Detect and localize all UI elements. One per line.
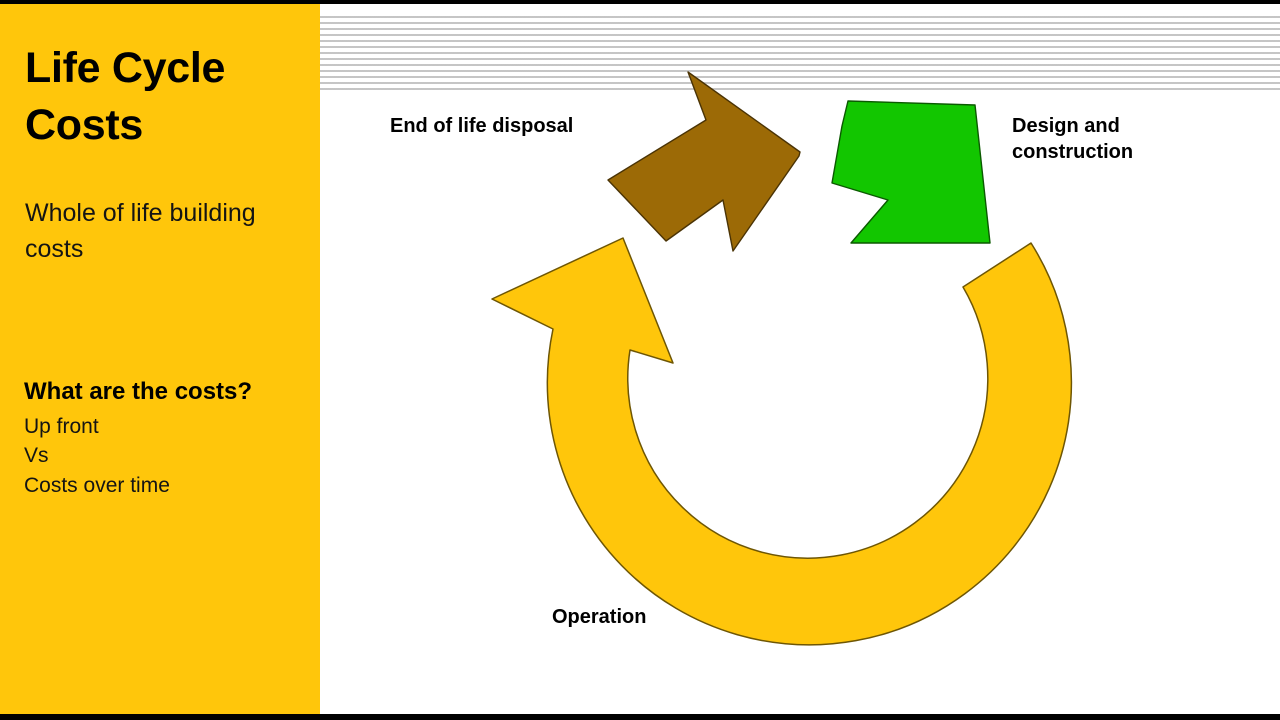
label-design-and-construction: Design and construction: [1012, 113, 1212, 165]
label-operation: Operation: [552, 604, 646, 630]
slide-canvas: Life Cycle Costs Whole of life building …: [0, 0, 1280, 720]
design-and-construction-arrow-icon: [832, 101, 990, 243]
operation-circular-arrow-icon: [492, 238, 1071, 645]
letterbox-bar-top: [0, 0, 1280, 4]
label-end-of-life-disposal: End of life disposal: [390, 113, 573, 139]
letterbox-bar-bottom: [0, 714, 1280, 720]
end-of-life-arrow-icon: [608, 72, 800, 251]
